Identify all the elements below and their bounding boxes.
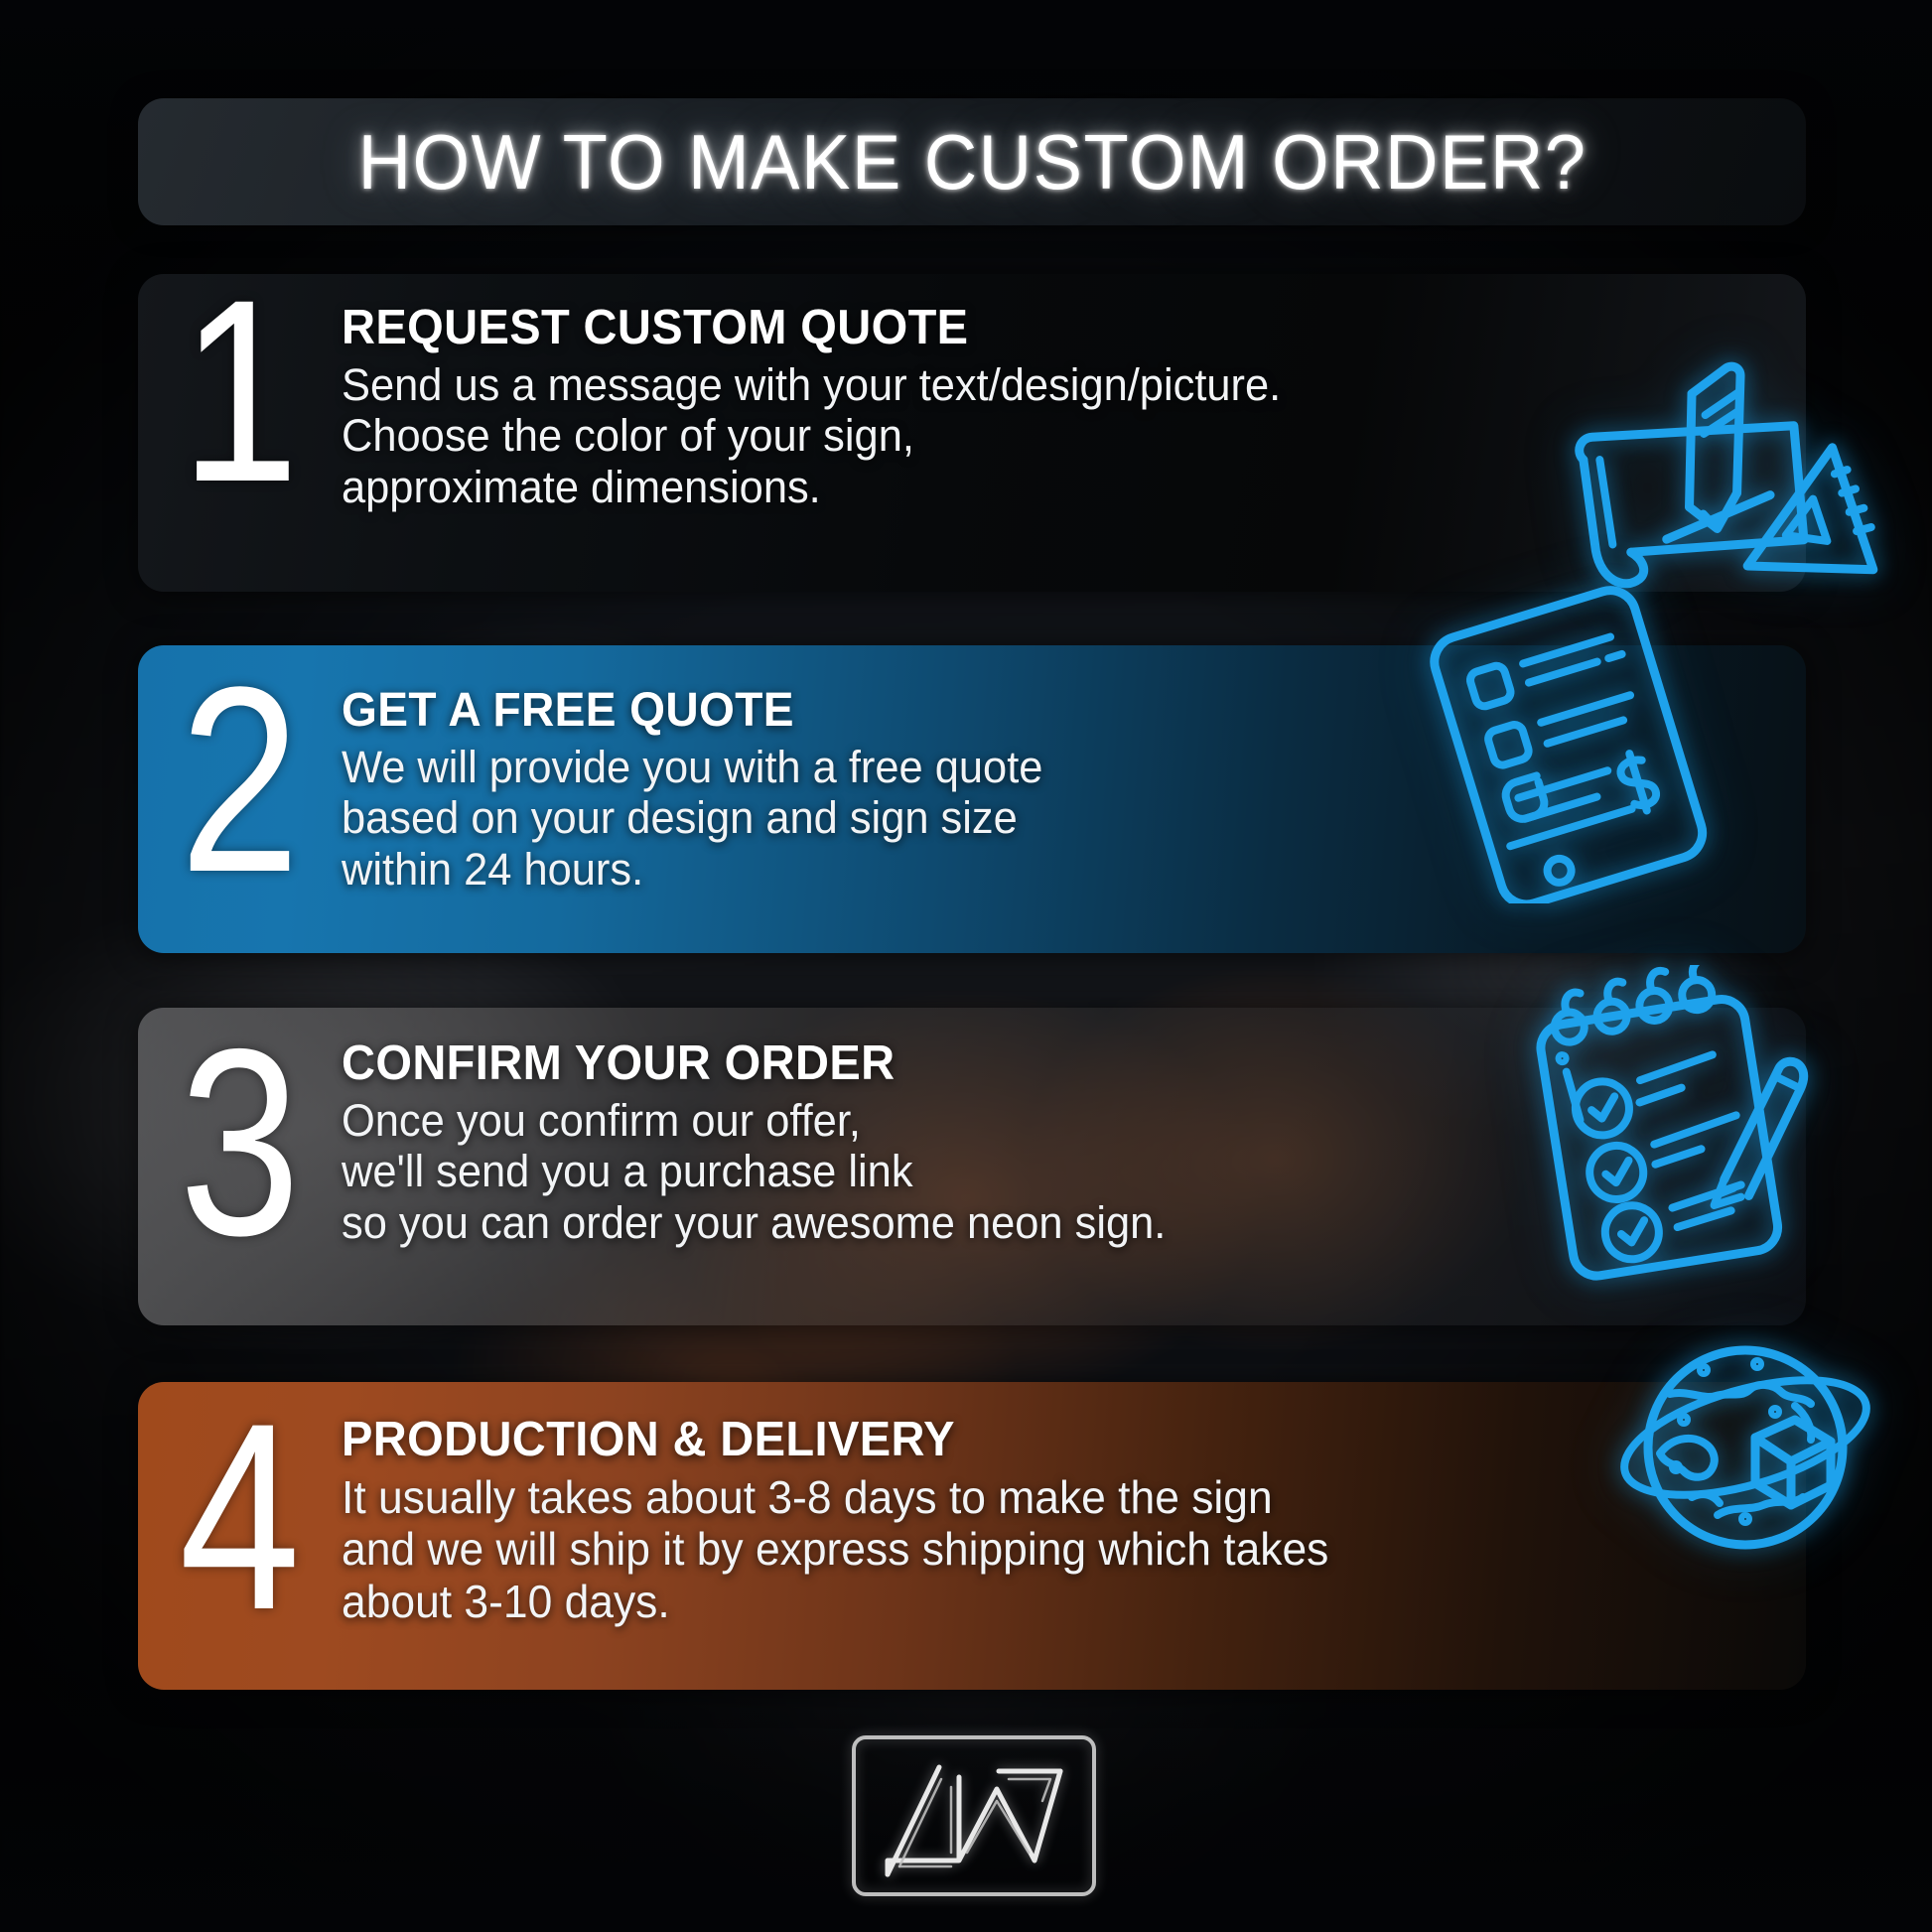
- step-card-2: 2 GET A FREE QUOTE We will provide you w…: [138, 645, 1806, 953]
- step-description-3: Once you confirm our offer, we'll send y…: [342, 1095, 1727, 1248]
- step-desc-line: about 3-10 days.: [342, 1576, 1727, 1627]
- step-desc-line: within 24 hours.: [342, 844, 1727, 895]
- step-heading-2: GET A FREE QUOTE: [342, 683, 1721, 738]
- step-description-1: Send us a message with your text/design/…: [342, 359, 1727, 512]
- step-desc-line: Once you confirm our offer,: [342, 1095, 1727, 1146]
- ln-monogram-logo: [850, 1731, 1098, 1900]
- step-desc-line: Choose the color of your sign,: [342, 410, 1727, 461]
- step-description-4: It usually takes about 3-8 days to make …: [342, 1471, 1727, 1627]
- step-desc-line: approximate dimensions.: [342, 462, 1727, 512]
- page-title-panel: HOW TO MAKE CUSTOM ORDER?: [138, 98, 1806, 225]
- step-heading-4: PRODUCTION & DELIVERY: [342, 1412, 1721, 1467]
- step-card-3: 3 CONFIRM YOUR ORDER Once you confirm ou…: [138, 1008, 1806, 1325]
- step-desc-line: and we will ship it by express shipping …: [342, 1523, 1727, 1575]
- infographic-canvas: HOW TO MAKE CUSTOM ORDER? 1 REQUEST CUST…: [0, 0, 1932, 1932]
- step-desc-line: It usually takes about 3-8 days to make …: [342, 1471, 1727, 1523]
- page-title: HOW TO MAKE CUSTOM ORDER?: [357, 117, 1587, 207]
- step-number-1: 1: [156, 274, 323, 519]
- step-number-2: 2: [156, 651, 323, 910]
- step-desc-line: Send us a message with your text/design/…: [342, 359, 1727, 410]
- step-number-3: 3: [156, 1012, 323, 1273]
- step-desc-line: based on your design and sign size: [342, 792, 1727, 843]
- step-card-4: 4 PRODUCTION & DELIVERY It usually takes…: [138, 1382, 1806, 1690]
- step-desc-line: We will provide you with a free quote: [342, 742, 1727, 792]
- step-heading-3: CONFIRM YOUR ORDER: [342, 1035, 1721, 1091]
- step-desc-line: we'll send you a purchase link: [342, 1146, 1727, 1196]
- step-card-1: 1 REQUEST CUSTOM QUOTE Send us a message…: [138, 274, 1806, 592]
- step-description-2: We will provide you with a free quote ba…: [342, 742, 1727, 895]
- step-heading-1: REQUEST CUSTOM QUOTE: [342, 300, 1721, 355]
- step-number-4: 4: [156, 1386, 323, 1647]
- step-desc-line: so you can order your awesome neon sign.: [342, 1197, 1727, 1248]
